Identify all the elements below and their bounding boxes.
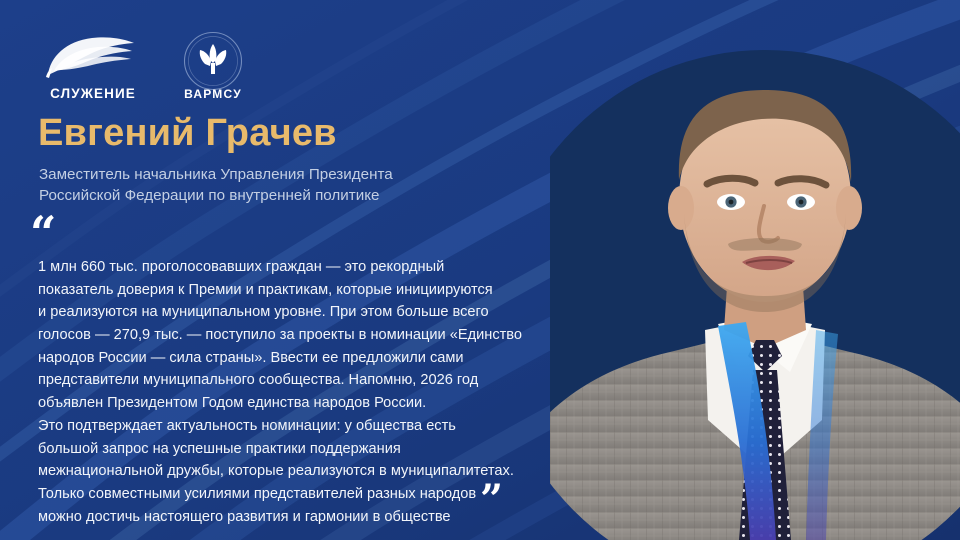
quote-card: СЛУЖЕНИЕ ВАРМСУ <box>0 0 960 540</box>
speaker-name: Евгений Грачев <box>38 114 337 154</box>
logo-sluzhenie: СЛУЖЕНИЕ <box>44 31 136 101</box>
speaker-portrait <box>550 0 960 540</box>
quote-open-mark: “ <box>30 210 56 256</box>
speaker-role: Заместитель начальника Управления Презид… <box>39 165 393 207</box>
quote-text: 1 млн 660 тыс. проголосовавших граждан —… <box>38 256 598 528</box>
logo-sluzhenie-wordmark: СЛУЖЕНИЕ <box>44 86 136 101</box>
wing-swoosh-icon <box>44 31 136 83</box>
logo-row: СЛУЖЕНИЕ ВАРМСУ <box>44 30 246 101</box>
quote-close-mark: ” <box>480 480 503 520</box>
logo-varmsu-wordmark: ВАРМСУ <box>180 87 246 101</box>
portrait-illustration <box>550 0 960 540</box>
logo-varmsu: ВАРМСУ <box>180 30 246 101</box>
